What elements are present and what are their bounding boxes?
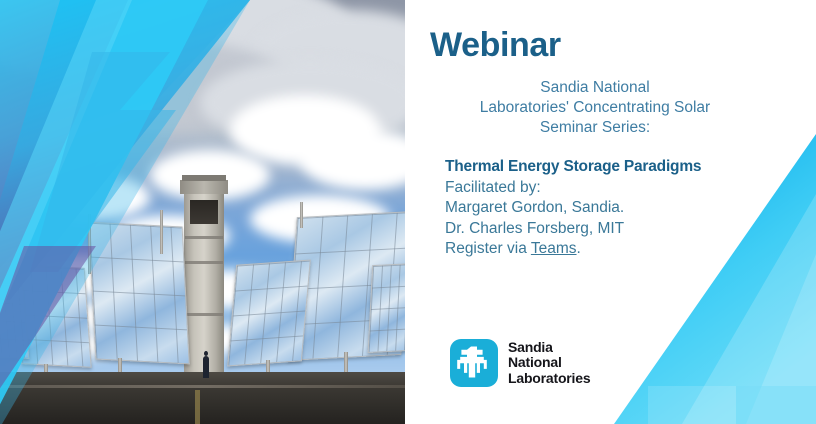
sandia-logo: Sandia National Laboratories: [449, 338, 590, 388]
logo-line-1: Sandia: [508, 340, 590, 356]
webinar-details: Thermal Energy Storage Paradigms Facilit…: [445, 157, 805, 260]
heliostat-mirror: [368, 263, 405, 353]
subtitle-line-1: Sandia National: [425, 78, 765, 98]
logo-line-3: Laboratories: [508, 371, 590, 387]
page-title: Webinar: [430, 26, 561, 65]
logo-line-2: National: [508, 355, 590, 371]
solar-tower-band: [185, 236, 223, 239]
ground: [0, 372, 405, 424]
heliostat-mast: [88, 214, 91, 274]
register-line: Register via Teams.: [445, 239, 805, 260]
sandia-thunderbird-icon: [449, 338, 499, 388]
register-prefix: Register via: [445, 240, 531, 257]
presenter-two: Dr. Charles Forsberg, MIT: [445, 219, 805, 240]
webinar-slide: Webinar Sandia National Laboratories' Co…: [0, 0, 816, 424]
heliostat-field-photo: [0, 0, 405, 424]
content-panel: Webinar Sandia National Laboratories' Co…: [405, 0, 816, 424]
presenter-one: Margaret Gordon, Sandia.: [445, 198, 805, 219]
cloud: [40, 175, 150, 220]
sandia-wordmark: Sandia National Laboratories: [508, 340, 590, 387]
register-suffix: .: [577, 240, 581, 257]
ground-edge-line: [0, 385, 405, 388]
heliostat-mast: [160, 210, 163, 254]
solar-tower-band: [185, 313, 223, 316]
solar-tower-cap-top: [182, 175, 226, 181]
teams-register-link[interactable]: Teams: [531, 240, 577, 257]
solar-tower-receiver: [190, 200, 218, 224]
subtitle-line-2: Laboratories' Concentrating Solar: [425, 98, 765, 118]
webinar-topic: Thermal Energy Storage Paradigms: [445, 157, 805, 178]
heliostat-mirror: [227, 260, 311, 367]
ground-stripe: [195, 390, 200, 424]
subtitle-line-3: Seminar Series:: [425, 118, 765, 138]
person-silhouette: [203, 356, 209, 378]
facilitated-by-label: Facilitated by:: [445, 178, 805, 199]
solar-tower-cap: [180, 180, 228, 194]
heliostat-mast: [300, 202, 303, 228]
heliostat-mirror: [88, 222, 190, 365]
solar-tower-band: [185, 261, 223, 264]
seminar-series-subtitle: Sandia National Laboratories' Concentrat…: [425, 78, 765, 138]
